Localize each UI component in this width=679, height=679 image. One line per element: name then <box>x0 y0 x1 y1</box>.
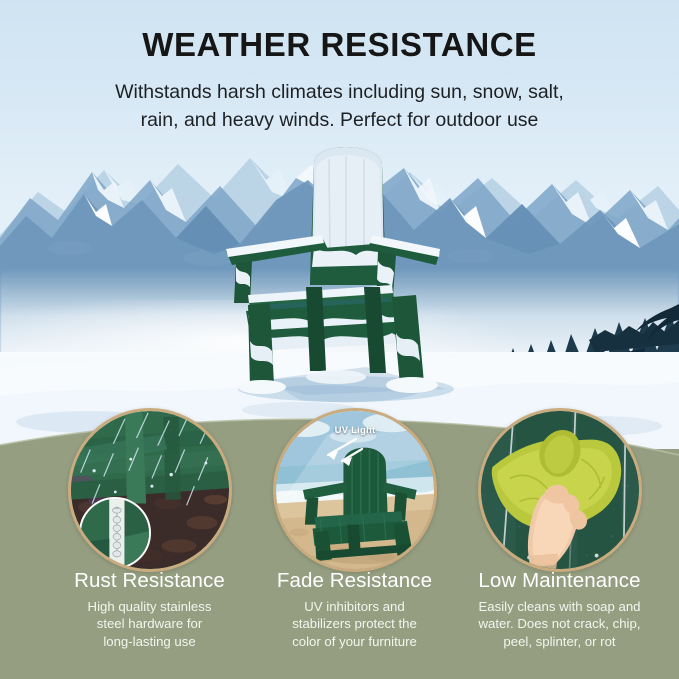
infographic-root: WEATHER RESISTANCE Withstands harsh clim… <box>0 0 679 679</box>
feature-circles: UV Light <box>0 408 679 578</box>
caption-line-1: Easily cleans with soap and <box>447 598 672 616</box>
caption-heading-rust-resistance: Rust Resistance <box>37 570 262 593</box>
caption-body-low-maintenance: Easily cleans with soap and water. Does … <box>447 598 672 651</box>
caption-body-rust-resistance: High quality stainless steel hardware fo… <box>37 598 262 651</box>
page-title: WEATHER RESISTANCE <box>0 28 679 61</box>
feature-image-fade-resistance: UV Light <box>273 408 437 572</box>
caption-heading-low-maintenance: Low Maintenance <box>447 570 672 593</box>
hardware-magnifier-inset <box>79 497 151 569</box>
uv-light-arrows <box>298 437 378 467</box>
subtitle-line-2: rain, and heavy winds. Perfect for outdo… <box>0 107 679 135</box>
caption-heading-fade-resistance: Fade Resistance <box>242 570 467 593</box>
caption-rust-resistance: Rust Resistance High quality stainless s… <box>37 570 262 651</box>
feature-image-low-maintenance <box>478 408 642 572</box>
caption-fade-resistance: Fade Resistance UV inhibitors and stabil… <box>242 570 467 651</box>
caption-line-3: color of your furniture <box>242 633 467 651</box>
uv-light-label: UV Light <box>335 425 376 436</box>
caption-low-maintenance: Low Maintenance Easily cleans with soap … <box>447 570 672 651</box>
caption-line-1: High quality stainless <box>37 598 262 616</box>
low-maintenance-photo <box>481 411 639 569</box>
subtitle-line-1: Withstands harsh climates including sun,… <box>0 79 679 107</box>
caption-line-2: water. Does not crack, chip, <box>447 615 672 633</box>
page-subtitle: Withstands harsh climates including sun,… <box>0 79 679 134</box>
caption-line-2: steel hardware for <box>37 615 262 633</box>
caption-body-fade-resistance: UV inhibitors and stabilizers protect th… <box>242 598 467 651</box>
caption-line-2: stabilizers protect the <box>242 615 467 633</box>
hero-adirondack-chair <box>196 145 488 403</box>
caption-line-1: UV inhibitors and <box>242 598 467 616</box>
feature-image-rust-resistance <box>68 408 232 572</box>
caption-line-3: long-lasting use <box>37 633 262 651</box>
feature-captions: Rust Resistance High quality stainless s… <box>0 570 679 679</box>
caption-line-3: peel, splinter, or rot <box>447 633 672 651</box>
